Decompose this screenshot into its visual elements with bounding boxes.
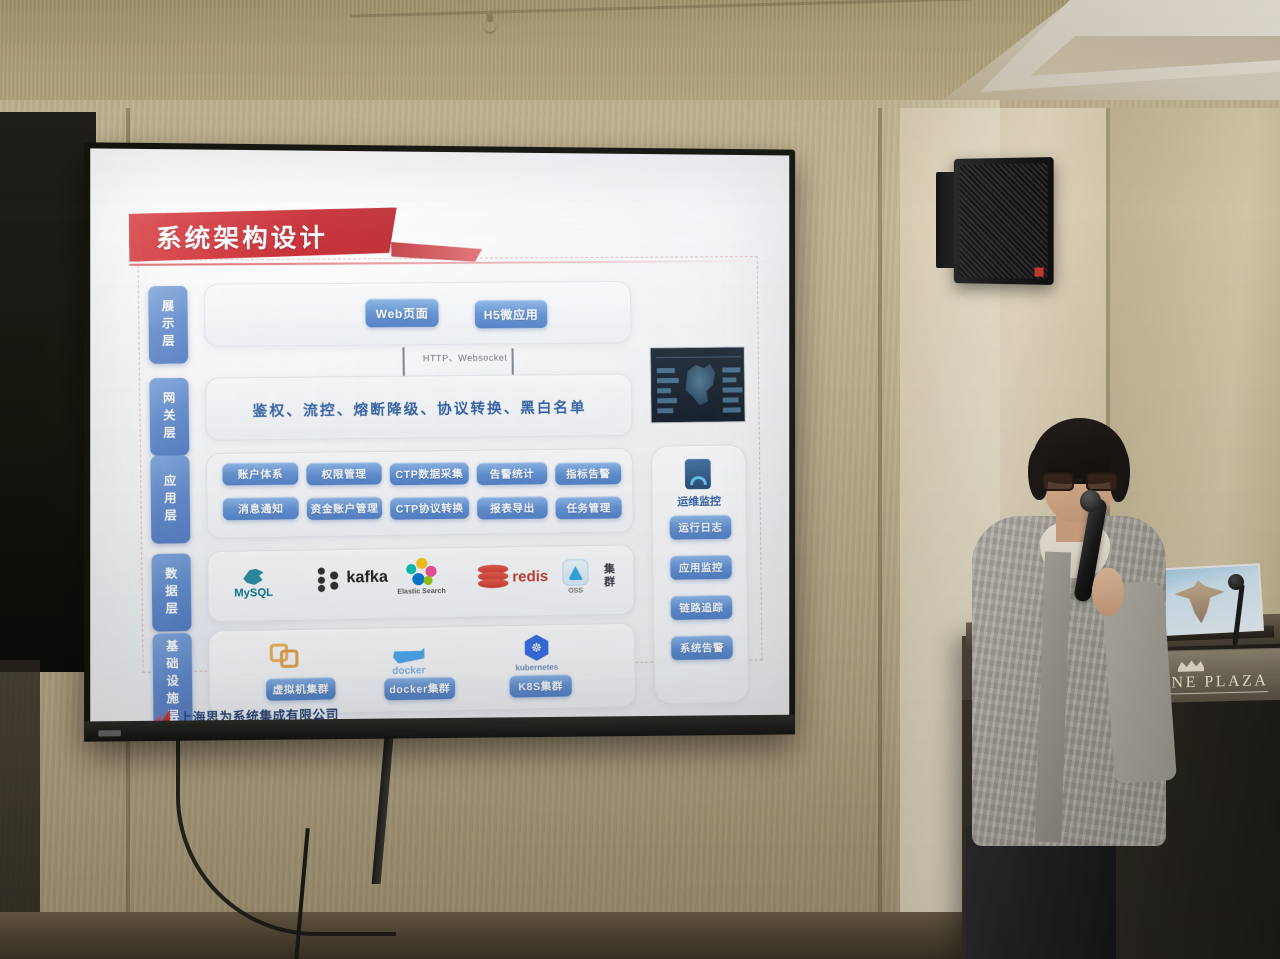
tech-kubernetes: ☸ kubernetes [515,634,558,672]
chip-metric-alarm[interactable]: 指标告警 [555,462,621,485]
chip-k8s-cluster[interactable]: K8S集群 [509,674,571,697]
speaker-badge [1035,267,1044,276]
chip-fund-account-mgmt[interactable]: 资金账户管理 [307,497,383,520]
tech-elasticsearch: Elastic Search [397,557,446,595]
chip-alarm-statistics[interactable]: 告警统计 [477,462,548,485]
chip-message-notification[interactable]: 消息通知 [223,497,299,520]
tech-oss: OSS [562,559,588,595]
dashboard-thumbnail [650,346,746,423]
page-title: 系统架构设计 [156,218,392,256]
monitor-panel-title: 运维监控 [651,492,746,509]
kafka-label: kafka [346,569,388,588]
kafka-icon [316,565,343,592]
wall-speaker-icon [954,157,1054,285]
tv-brand-logo [98,730,120,736]
tech-mysql: MySQL [234,568,273,599]
chip-ctp-data-collection[interactable]: CTP数据采集 [390,462,469,485]
gauge-icon [685,459,711,489]
chip-trace-tracking[interactable]: 链路追踪 [671,595,733,620]
tech-kafka: kafka [316,564,388,592]
layer-label-gateway: 网关层 [149,378,189,456]
chip-vm-cluster[interactable]: 虚拟机集群 [266,677,336,701]
chip-h5-app[interactable]: H5微应用 [475,300,548,329]
oss-icon [562,559,588,586]
presenter-glasses-icon [1040,472,1118,492]
chip-permission-mgmt[interactable]: 权限管理 [306,462,382,485]
presenter-hand [1092,568,1124,616]
kubernetes-icon: ☸ [523,634,549,661]
sailboat-logo-icon [153,709,174,721]
elastic-search-icon [406,558,437,587]
mysql-dolphin-icon [243,569,264,586]
display-screen: 系统架构设计 展示层 Web页面 H5微应用 HTTP、Websocket 网关… [84,142,795,741]
presentation-slide: 系统架构设计 展示层 Web页面 H5微应用 HTTP、Websocket 网关… [90,148,789,721]
elastic-search-label: Elastic Search [397,588,446,596]
kubernetes-label: kubernetes [515,662,558,672]
desk-mic-head [1228,574,1244,590]
layer-label-application: 应用层 [150,455,190,543]
chip-account-system[interactable]: 账户体系 [222,462,298,485]
layer-box-application [206,448,634,539]
oss-label: OSS [568,587,583,594]
ceiling-sprinkler-icon [484,20,496,32]
dark-alcove-left [0,112,96,672]
chip-web-page[interactable]: Web页面 [365,298,438,327]
mysql-label: MySQL [234,587,273,600]
tech-docker: docker [392,641,426,677]
chip-task-management[interactable]: 任务管理 [555,496,621,519]
arrow-web-to-gateway [402,347,404,377]
tech-vmware [270,641,301,670]
protocol-label: HTTP、Websocket [423,350,508,364]
crown-icon [1178,659,1204,672]
chip-runtime-logs[interactable]: 运行日志 [670,515,732,540]
layer-label-presentation: 展示层 [148,286,188,364]
chip-system-alarm[interactable]: 系统告警 [671,635,733,660]
redis-label: redis [512,567,548,585]
chip-ctp-protocol-conversion[interactable]: CTP协议转换 [390,496,469,519]
slide-surface: 系统架构设计 展示层 Web页面 H5微应用 HTTP、Websocket 网关… [90,148,789,721]
docker-label: docker [392,665,425,677]
chip-docker-cluster[interactable]: docker集群 [384,677,455,701]
docker-icon [392,641,425,664]
chip-app-monitoring[interactable]: 应用监控 [670,555,732,580]
laptop-wallpaper-swimmer [1173,579,1228,625]
conference-room-photo: 系统架构设计 展示层 Web页面 H5微应用 HTTP、Websocket 网关… [0,0,1280,959]
chip-report-export[interactable]: 报表导出 [477,496,548,519]
tech-redis: redis [478,564,549,589]
layer-label-data: 数据层 [151,553,191,631]
data-layer-cluster-label: 集群 [600,563,616,589]
redis-icon [478,564,509,589]
vmware-icon [270,641,301,670]
china-map-graphic [681,361,719,407]
speaker-grille [960,163,1048,279]
